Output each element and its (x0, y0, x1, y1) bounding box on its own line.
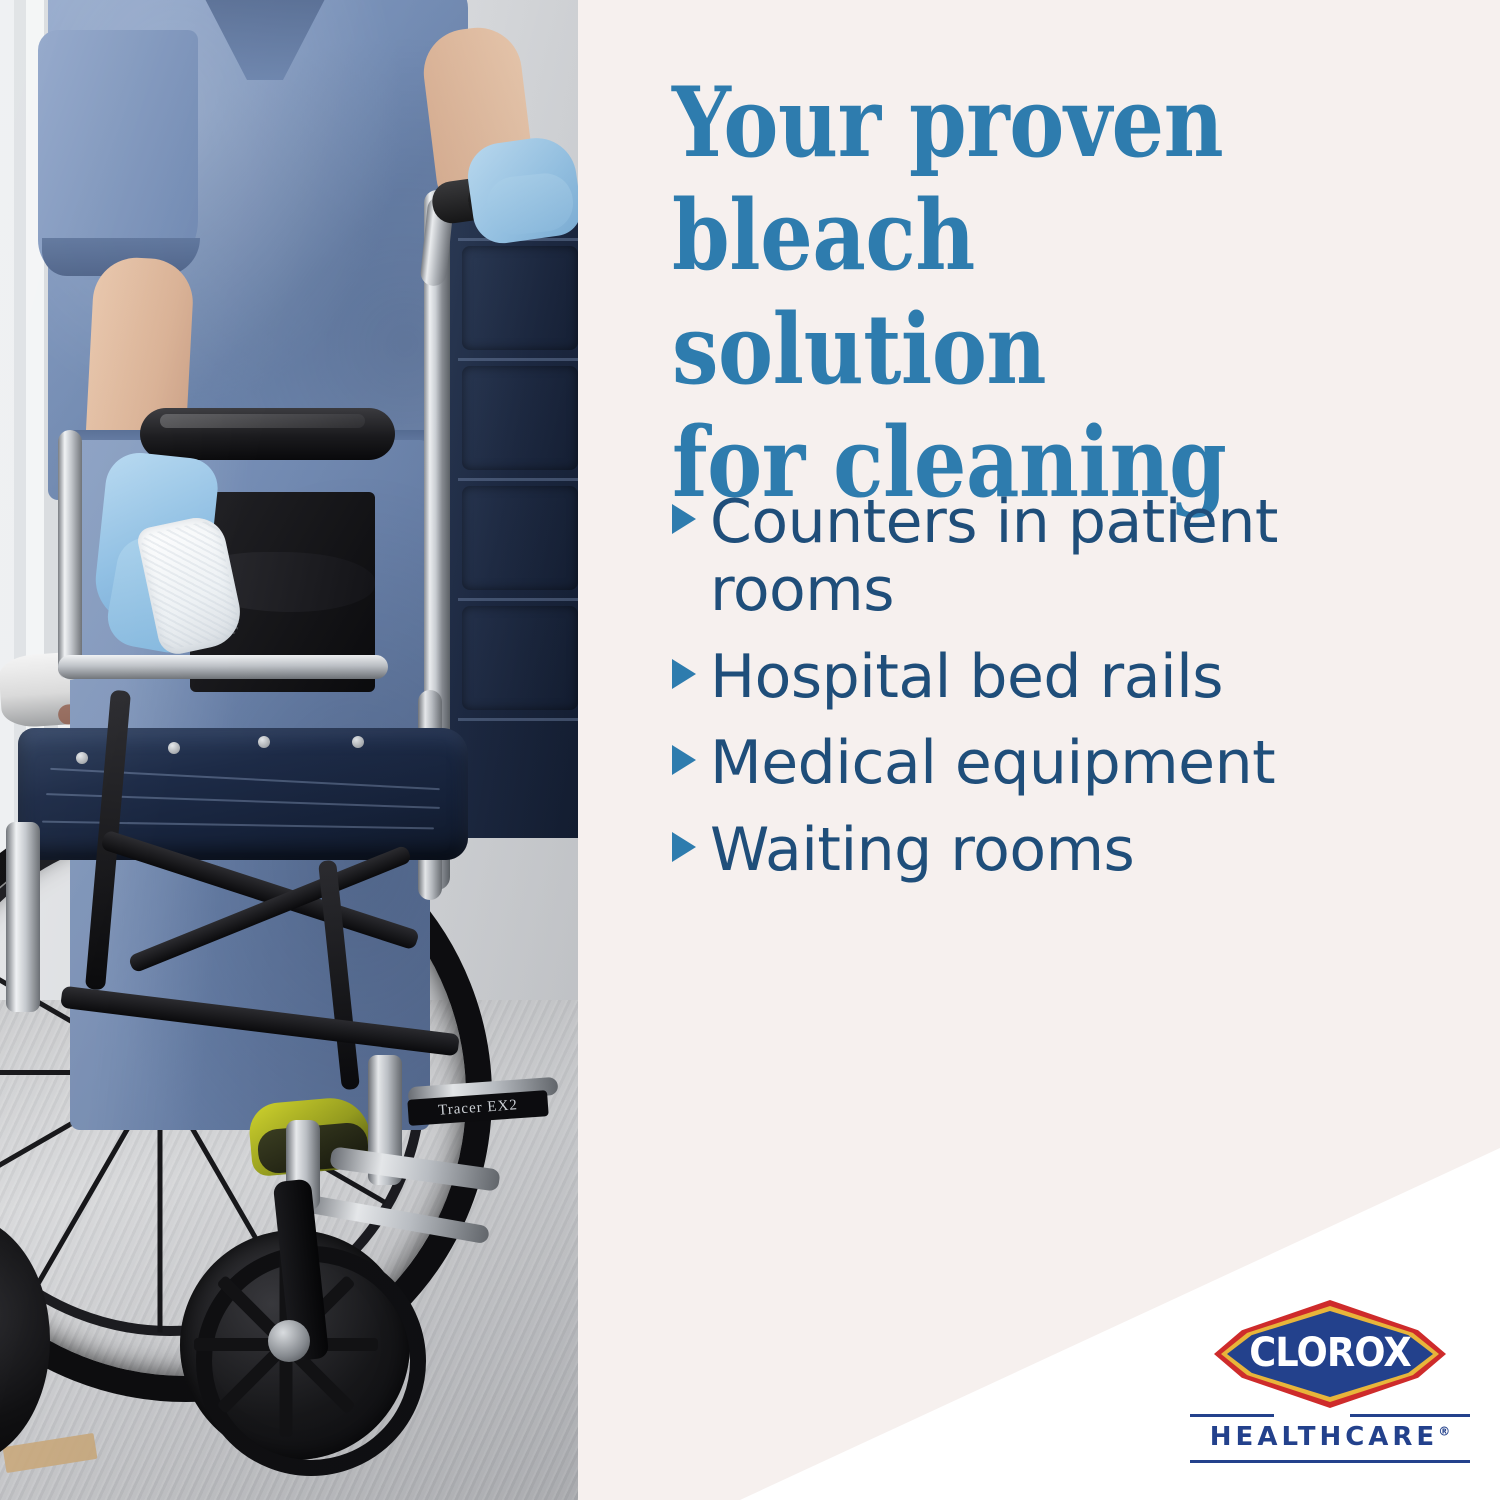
photo-seat-stud (76, 752, 88, 764)
photo-armrest-highlight (160, 414, 365, 428)
logo-rule-left (1190, 1414, 1274, 1417)
list-item-label: Medical equipment (710, 729, 1275, 797)
marketing-graphic: Tracer EX2 Your proven bleach solution f… (0, 0, 1500, 1500)
photo-chrome-post (6, 822, 40, 1012)
clorox-diamond-icon: CLOROX (1214, 1300, 1446, 1408)
healthcare-wordmark: HEALTHCARE® (1190, 1422, 1470, 1452)
triangle-bullet-icon (672, 504, 710, 534)
photo-backrest-panel (462, 366, 578, 470)
photo-backrest-seam (458, 358, 578, 361)
clorox-wordmark: CLOROX (1223, 1330, 1436, 1376)
headline-line-2: bleach solution (672, 179, 1351, 406)
triangle-bullet-icon (672, 832, 710, 862)
benefits-list: Counters in patient rooms Hospital bed r… (672, 488, 1432, 902)
photo-caster-hub (268, 1320, 310, 1362)
healthcare-text: HEALTHCARE (1210, 1422, 1438, 1452)
clorox-healthcare-logo: CLOROX HEALTHCARE® (1190, 1300, 1470, 1470)
photo-seat-stud (352, 736, 364, 748)
triangle-bullet-icon (672, 745, 710, 775)
photo-backrest-seam (458, 478, 578, 481)
photo-armrest-tube-lower (58, 655, 388, 679)
photo-backrest-seam (458, 718, 578, 721)
photo-backrest-seam (458, 598, 578, 601)
headline-line-1: Your proven (672, 66, 1351, 179)
list-item-label: Waiting rooms (710, 816, 1134, 884)
photo-seat-stud (258, 736, 270, 748)
logo-rule-bottom (1190, 1460, 1470, 1463)
list-item: Waiting rooms (672, 816, 1432, 884)
registered-mark: ® (1438, 1424, 1450, 1438)
photo-seat-stud (168, 742, 180, 754)
list-item-label: Hospital bed rails (710, 643, 1223, 711)
logo-rule-right (1350, 1414, 1470, 1417)
list-item: Medical equipment (672, 729, 1432, 797)
list-item: Hospital bed rails (672, 643, 1432, 711)
photo-backrest-panel (462, 486, 578, 590)
list-item: Counters in patient rooms (672, 488, 1432, 625)
photo-backrest-panel (462, 246, 578, 350)
triangle-bullet-icon (672, 659, 710, 689)
photo-backrest-panel (462, 606, 578, 710)
photo-armrest-tube (58, 430, 82, 680)
hero-photo: Tracer EX2 (0, 0, 578, 1500)
list-item-label: Counters in patient rooms (710, 488, 1350, 625)
headline: Your proven bleach solution for cleaning (672, 66, 1351, 519)
